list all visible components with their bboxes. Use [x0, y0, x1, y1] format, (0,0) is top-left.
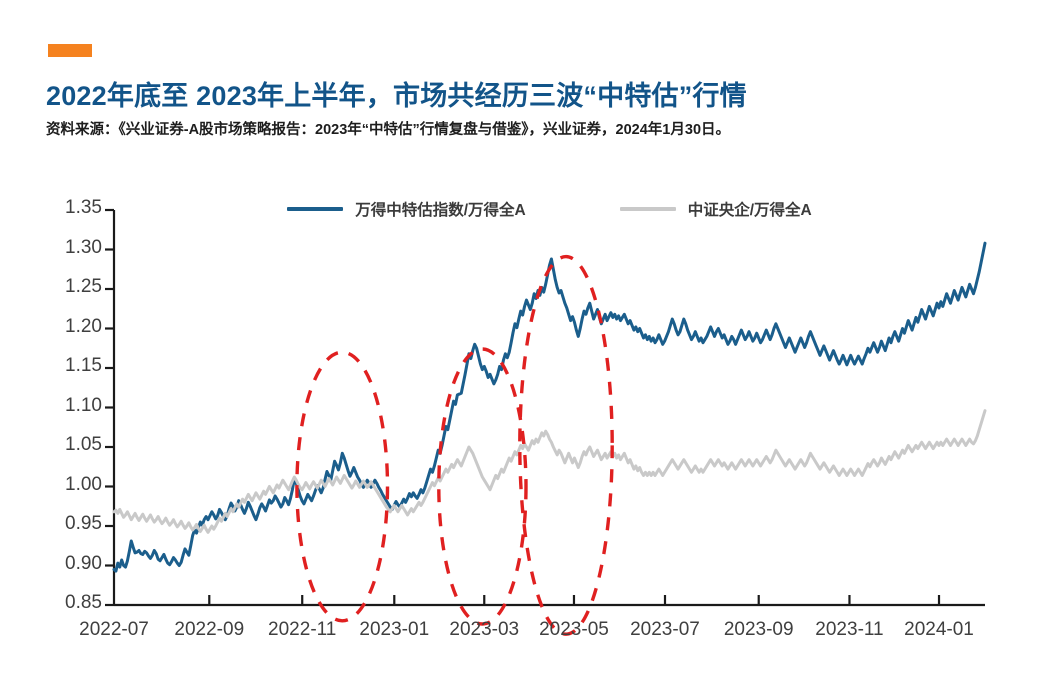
y-axis-tick-label: 1.15 [30, 355, 102, 377]
series-line-1 [114, 243, 985, 571]
y-axis-tick-label: 1.00 [30, 474, 102, 496]
x-axis-tick-label: 2024-01 [879, 619, 999, 641]
y-axis-tick-label: 1.30 [30, 237, 102, 259]
chart-page: 2022年底至 2023年上半年，市场共经历三波“中特估”行情 资料来源：《兴业… [0, 0, 1060, 698]
y-axis-tick-label: 1.20 [30, 316, 102, 338]
chart-container: 万得中特估指数/万得全A中证央企/万得全A 0.850.900.951.001.… [0, 0, 1060, 698]
y-axis-tick-label: 1.35 [30, 197, 102, 219]
y-axis-tick-label: 0.85 [30, 592, 102, 614]
y-axis-tick-label: 1.05 [30, 434, 102, 456]
y-axis-tick-label: 0.90 [30, 553, 102, 575]
y-axis-tick-label: 0.95 [30, 513, 102, 535]
line-chart [0, 0, 1060, 698]
y-axis-tick-label: 1.25 [30, 276, 102, 298]
annotation-ellipse-2 [439, 349, 526, 624]
annotation-ellipse-3 [520, 257, 612, 635]
y-axis-tick-label: 1.10 [30, 395, 102, 417]
